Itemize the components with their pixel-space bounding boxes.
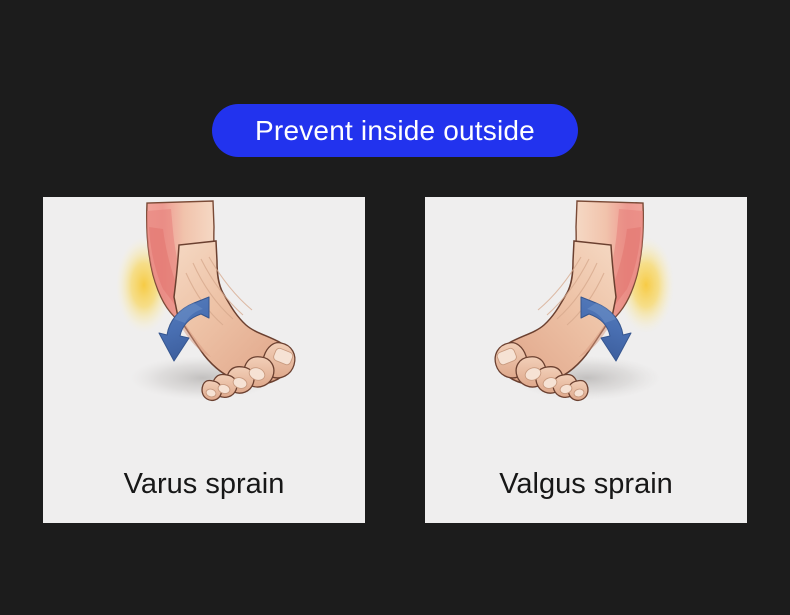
panel-label-valgus: Valgus sprain bbox=[425, 470, 747, 499]
foot-varus-sprain-illustration bbox=[43, 197, 365, 465]
panel-label-varus: Varus sprain bbox=[43, 470, 365, 499]
promo-page: Prevent inside outside bbox=[0, 0, 790, 615]
banner-title: Prevent inside outside bbox=[255, 117, 535, 145]
banner-row: Prevent inside outside bbox=[0, 104, 790, 157]
panel-valgus: Valgus sprain bbox=[425, 197, 747, 523]
panel-row: Varus sprain bbox=[43, 197, 747, 523]
foot-valgus-sprain-illustration bbox=[425, 197, 747, 465]
panel-varus: Varus sprain bbox=[43, 197, 365, 523]
prevent-banner: Prevent inside outside bbox=[212, 104, 578, 157]
